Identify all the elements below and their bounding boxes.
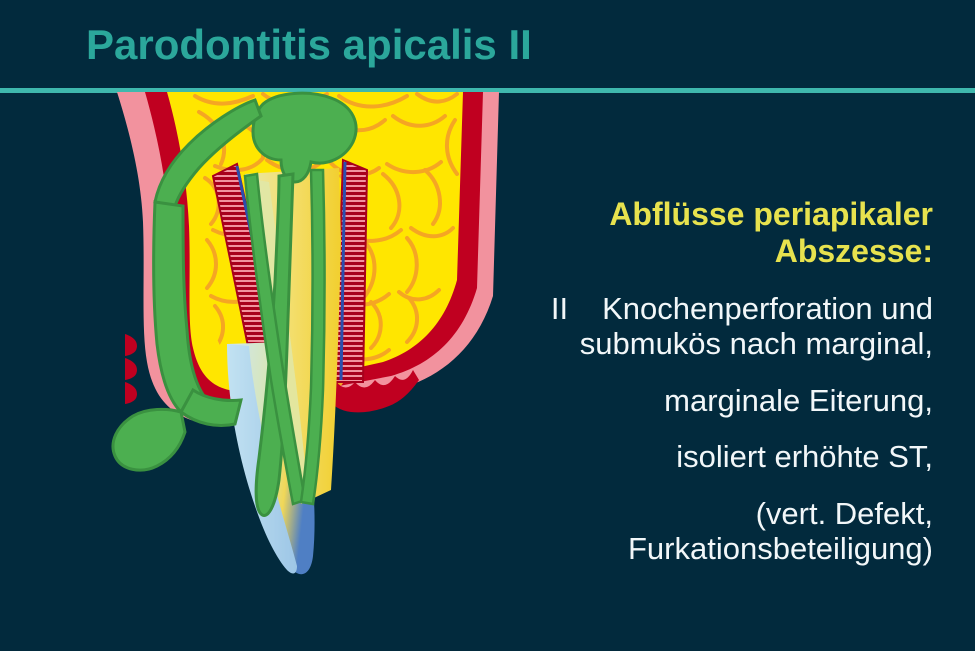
slide-root: Parodontitis apicalis II: [0, 0, 975, 651]
body-line-2: marginale Eiterung,: [455, 384, 933, 419]
left-gingiva-scallops: [125, 334, 137, 404]
item-row: II Knochenperforation und: [455, 291, 933, 327]
item-first-line: Knochenperforation und: [602, 292, 933, 327]
content-text-block: Abflüsse periapikaler Abszesse: II Knoch…: [455, 196, 933, 566]
periapical-abscess-illustration: [95, 90, 515, 590]
body-line-1: submukös nach marginal,: [455, 327, 933, 362]
body-line-4: (vert. Defekt,: [455, 497, 933, 532]
heading-line-1: Abflüsse periapikaler: [455, 196, 933, 233]
heading-line-2: Abszesse:: [455, 233, 933, 270]
page-title: Parodontitis apicalis II: [86, 22, 532, 68]
body-line-3: isoliert erhöhte ST,: [455, 440, 933, 475]
item-marker: II: [551, 291, 568, 327]
submucosal-abscess-blob: [113, 409, 185, 470]
body-line-5: Furkationsbeteiligung): [455, 532, 933, 567]
heading-group: Abflüsse periapikaler Abszesse:: [455, 196, 933, 271]
